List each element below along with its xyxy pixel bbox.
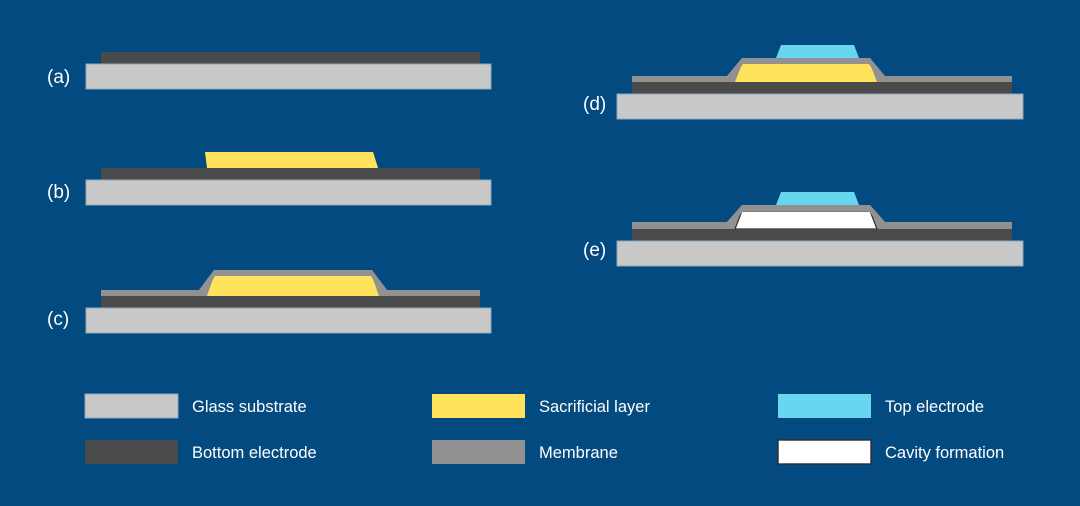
panel-b: (b): [47, 152, 491, 205]
panel-b-bottom-electrode: [101, 168, 480, 180]
panel-e-membrane-right-arm: [877, 222, 1012, 229]
legend-column-1: Glass substrate Bottom electrode: [85, 394, 317, 464]
legend-item-bottom-electrode: Bottom electrode: [85, 440, 317, 464]
panel-d-sacrificial-layer: [735, 64, 877, 82]
panel-e: (e): [583, 192, 1023, 266]
legend-label-cavity-formation: Cavity formation: [885, 444, 1004, 462]
legend-column-3: Top electrode Cavity formation: [778, 394, 1004, 464]
legend-label-membrane: Membrane: [539, 444, 618, 462]
panel-d-membrane-right-arm: [877, 76, 1012, 82]
panel-a-label: (a): [47, 67, 70, 88]
panel-d-label: (d): [583, 94, 606, 115]
panel-a: (a): [47, 52, 491, 89]
panel-a-glass-substrate: [86, 64, 491, 89]
panel-d-glass-substrate: [617, 94, 1023, 119]
panel-e-top-electrode: [776, 192, 859, 205]
panel-d: (d): [583, 45, 1023, 119]
panel-d-top-electrode: [776, 45, 859, 58]
panel-b-label: (b): [47, 182, 70, 203]
legend-label-glass-substrate: Glass substrate: [192, 398, 307, 416]
panel-d-bottom-electrode: [632, 82, 1012, 94]
panel-e-glass-substrate: [617, 241, 1023, 266]
legend-item-glass-substrate: Glass substrate: [85, 394, 307, 418]
legend-swatch-sacrificial-layer: [432, 394, 525, 418]
legend-label-bottom-electrode: Bottom electrode: [192, 444, 317, 462]
panel-d-membrane-left-arm: [632, 76, 735, 82]
panel-c-label: (c): [47, 309, 69, 330]
legend-swatch-top-electrode: [778, 394, 871, 418]
legend-item-top-electrode: Top electrode: [778, 394, 984, 418]
panel-e-label: (e): [583, 240, 606, 261]
legend-item-membrane: Membrane: [432, 440, 618, 464]
legend-column-2: Sacrificial layer Membrane: [432, 394, 650, 464]
panel-e-bottom-electrode: [632, 229, 1012, 241]
legend-item-sacrificial-layer: Sacrificial layer: [432, 394, 650, 418]
panel-b-sacrificial-layer-upper: [205, 152, 378, 168]
figure-root: (a) (b) (c): [0, 0, 1080, 506]
panel-e-membrane-left-arm: [632, 222, 735, 229]
panel-c-bottom-electrode: [101, 296, 480, 308]
panel-c: (c): [47, 270, 491, 333]
panel-c-membrane-right-arm: [379, 290, 480, 296]
panel-c-glass-substrate: [86, 308, 491, 333]
panel-a-bottom-electrode: [101, 52, 480, 64]
panel-b-glass-substrate: [86, 180, 491, 205]
panel-c-sacrificial-layer: [207, 276, 379, 296]
process-flow-diagram: (a) (b) (c): [0, 0, 1080, 506]
legend: Glass substrate Bottom electrode Sacrifi…: [85, 394, 1004, 464]
panel-e-cavity-formation: [735, 211, 877, 229]
legend-swatch-membrane: [432, 440, 525, 464]
panel-c-membrane-left-arm: [101, 290, 207, 296]
legend-label-top-electrode: Top electrode: [885, 398, 984, 416]
legend-swatch-glass-substrate: [85, 394, 178, 418]
legend-label-sacrificial-layer: Sacrificial layer: [539, 398, 650, 416]
legend-swatch-bottom-electrode: [85, 440, 178, 464]
legend-swatch-cavity-formation: [778, 440, 871, 464]
legend-item-cavity-formation: Cavity formation: [778, 440, 1004, 464]
